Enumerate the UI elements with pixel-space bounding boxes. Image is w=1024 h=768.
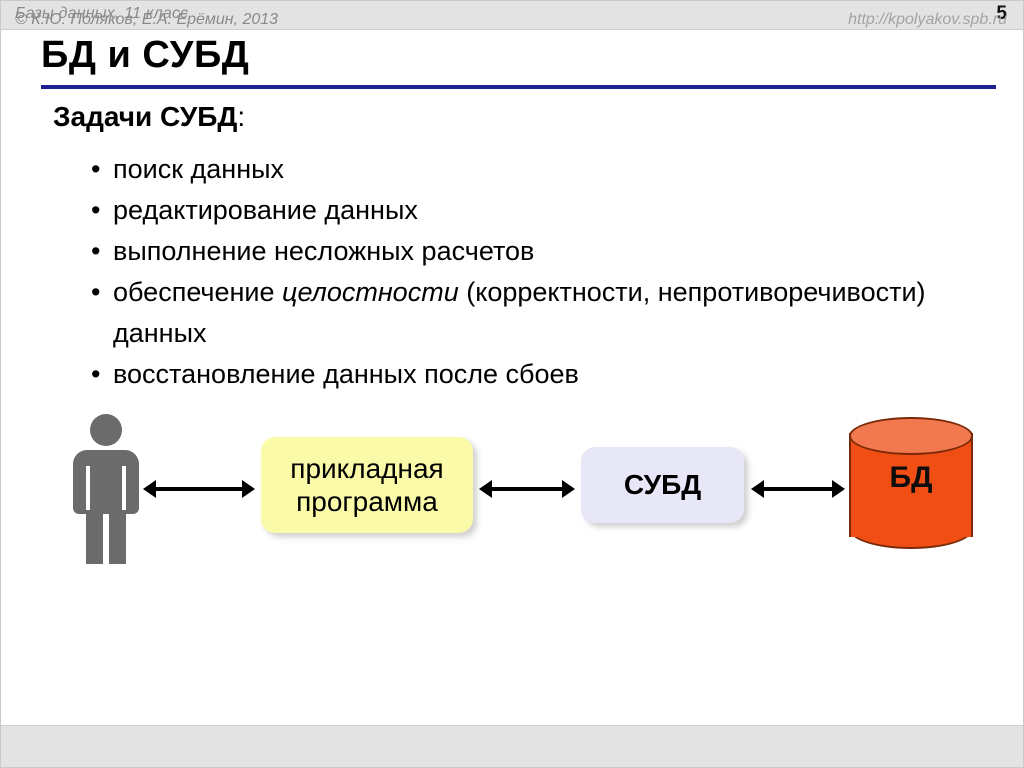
bullet-icon: • [91,231,100,272]
tasks-list: • поиск данных • редактирование данных •… [89,149,969,395]
footer-band [1,725,1024,767]
user-arm-gap-left [86,466,90,514]
database-node-label: БД [849,461,973,495]
slide: Базы данных, 11 класс 5 БД и СУБД Задачи… [0,0,1024,768]
bullet-icon: • [91,149,100,190]
list-item-label-emphasis: целостности [282,277,459,307]
bullet-icon: • [91,354,100,395]
list-item: • восстановление данных после сбоев [89,354,969,395]
application-node-line1: прикладная [290,452,443,485]
list-item: • поиск данных [89,149,969,190]
list-item-label: редактирование данных [113,195,418,225]
cylinder-top [849,417,973,455]
user-leg-left [86,510,103,564]
database-cylinder-icon: БД [849,417,973,553]
dbms-node-label: СУБД [624,469,701,501]
list-item: • обеспечение целостности (корректности,… [89,272,969,354]
user-arm-gap-right [122,466,126,514]
arrow-user-application [143,480,255,498]
list-item-label: поиск данных [113,154,284,184]
section-heading-label: Задачи СУБД [53,101,237,132]
arrowhead-right-icon [832,480,845,498]
application-node-line2: программа [290,485,443,518]
arrow-shaft [760,487,836,491]
arrowhead-right-icon [562,480,575,498]
footer-url[interactable]: http://kpolyakov.spb.ru [848,11,1007,29]
dbms-node: СУБД [581,447,744,523]
arrow-shaft [152,487,246,491]
application-node: прикладная программа [261,437,473,533]
page-title: БД и СУБД [41,34,249,77]
list-item-label-before: обеспечение [113,277,282,307]
arrowhead-right-icon [242,480,255,498]
arrow-dbms-database [751,480,845,498]
user-figure-icon [73,414,139,564]
list-item-label: восстановление данных после сбоев [113,359,579,389]
list-item-label: выполнение несложных расчетов [113,236,534,266]
section-heading-colon: : [237,101,245,132]
title-underline-rule [41,85,996,89]
arrow-application-dbms [479,480,575,498]
user-head [90,414,122,446]
list-item: • выполнение несложных расчетов [89,231,969,272]
arrow-shaft [488,487,566,491]
section-heading: Задачи СУБД: [53,101,245,133]
footer-copyright: © К.Ю. Поляков, Е.А. Ерёмин, 2013 [15,11,278,29]
bullet-icon: • [91,272,100,313]
user-leg-right [109,510,126,564]
list-item: • редактирование данных [89,190,969,231]
architecture-diagram: прикладная программа СУБД БД [1,396,1024,586]
user-torso [73,450,139,514]
bullet-icon: • [91,190,100,231]
